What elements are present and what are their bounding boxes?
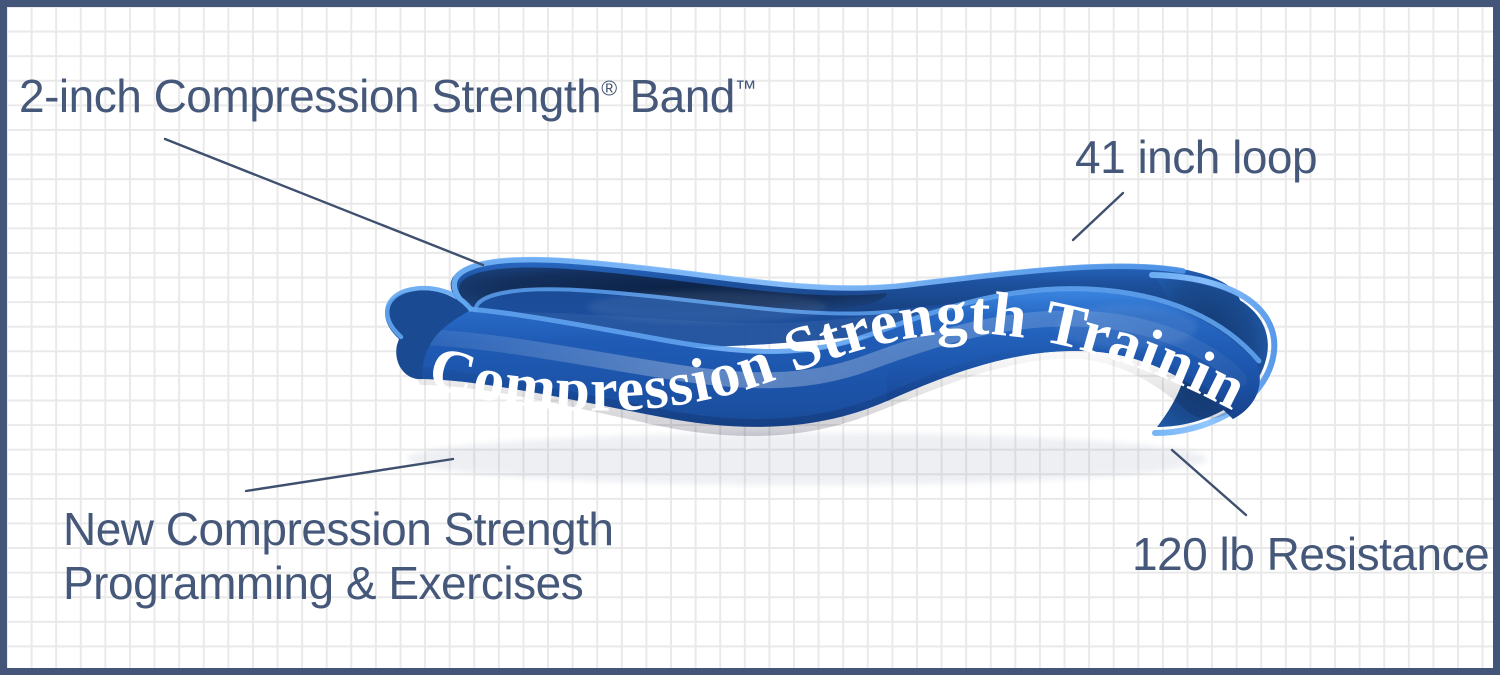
callout-loop-length-text: 41 inch loop [1075, 131, 1317, 183]
callout-programming-line2: Programming & Exercises [63, 556, 613, 610]
registered-trademark-symbol: ® [601, 76, 617, 101]
callout-band-width-text2: Band [617, 70, 735, 122]
callout-band-width-text: 2-inch Compression Strength [19, 70, 601, 122]
callout-programming-line1: New Compression Strength [63, 502, 613, 556]
infographic-canvas: Compression Strength Training 2-inch Com… [0, 0, 1500, 675]
trademark-symbol: ™ [735, 76, 757, 101]
callout-label-band-width: 2-inch Compression Strength® Band™ [19, 69, 757, 123]
callout-label-resistance: 120 lb Resistance [1132, 527, 1489, 581]
callout-label-loop-length: 41 inch loop [1075, 130, 1317, 184]
callout-label-programming: New Compression Strength Programming & E… [63, 502, 613, 611]
callout-resistance-text: 120 lb Resistance [1132, 528, 1489, 580]
